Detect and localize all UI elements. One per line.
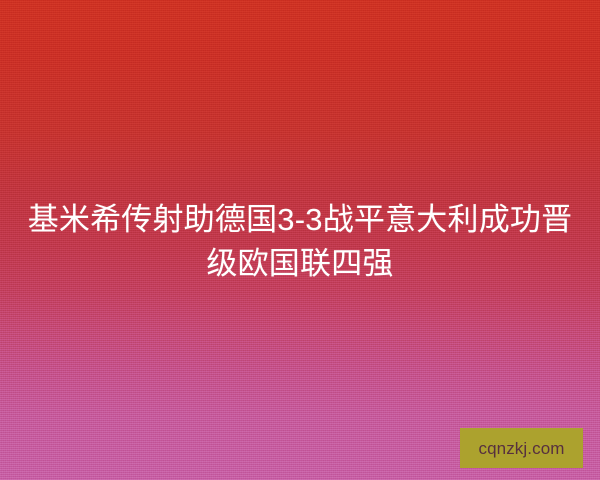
headline-title: 基米希传射助德国3-3战平意大利成功晋级欧国联四强 [0,198,600,286]
image-canvas: 基米希传射助德国3-3战平意大利成功晋级欧国联四强 cqnzkj.com [0,0,600,480]
watermark-site-label: cqnzkj.com [478,440,564,457]
watermark-badge: cqnzkj.com [460,428,583,468]
